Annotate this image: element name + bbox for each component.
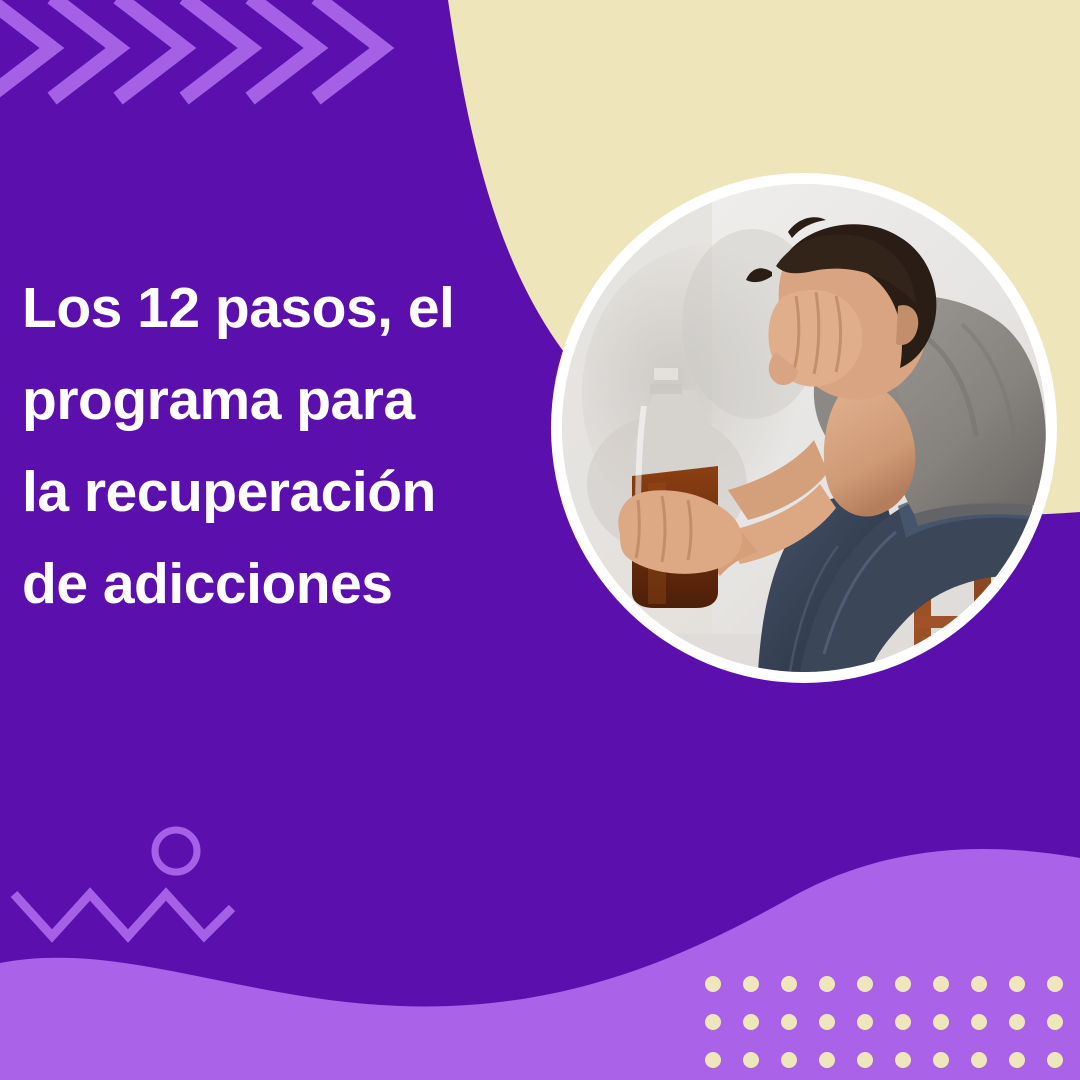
grid-dot xyxy=(971,1014,987,1030)
photo-circle-frame xyxy=(551,173,1057,683)
page-title: Los 12 pasos, el programa para la recupe… xyxy=(22,262,542,630)
grid-dot xyxy=(1009,1014,1025,1030)
grid-dot xyxy=(819,1014,835,1030)
grid-dot xyxy=(857,1014,873,1030)
grid-dot xyxy=(819,1052,835,1068)
grid-dot xyxy=(1047,1014,1063,1030)
poster-canvas: Los 12 pasos, el programa para la recupe… xyxy=(0,0,1080,1080)
grid-dot xyxy=(743,1014,759,1030)
photo-bottle-neckband xyxy=(650,384,682,394)
photo-image xyxy=(562,184,1046,672)
grid-dot xyxy=(1009,976,1025,992)
photo-bottle-cap xyxy=(654,368,678,380)
grid-dot xyxy=(1047,976,1063,992)
man-holding-bottle-illustration xyxy=(562,184,1046,672)
grid-dot xyxy=(895,1014,911,1030)
grid-dot xyxy=(781,1014,797,1030)
grid-dot xyxy=(857,976,873,992)
grid-dot xyxy=(705,1052,721,1068)
grid-dot xyxy=(705,976,721,992)
grid-dot xyxy=(971,976,987,992)
grid-dot xyxy=(781,976,797,992)
grid-dot xyxy=(1047,1052,1063,1068)
grid-dot xyxy=(933,1014,949,1030)
grid-dot xyxy=(933,976,949,992)
grid-dot xyxy=(819,976,835,992)
grid-dot xyxy=(743,1052,759,1068)
grid-dot xyxy=(971,1052,987,1068)
grid-dot xyxy=(743,976,759,992)
grid-dot xyxy=(933,1052,949,1068)
grid-dot xyxy=(705,1014,721,1030)
grid-dot xyxy=(781,1052,797,1068)
grid-dot xyxy=(857,1052,873,1068)
grid-dot xyxy=(1009,1052,1025,1068)
grid-dot xyxy=(895,1052,911,1068)
grid-dot xyxy=(895,976,911,992)
